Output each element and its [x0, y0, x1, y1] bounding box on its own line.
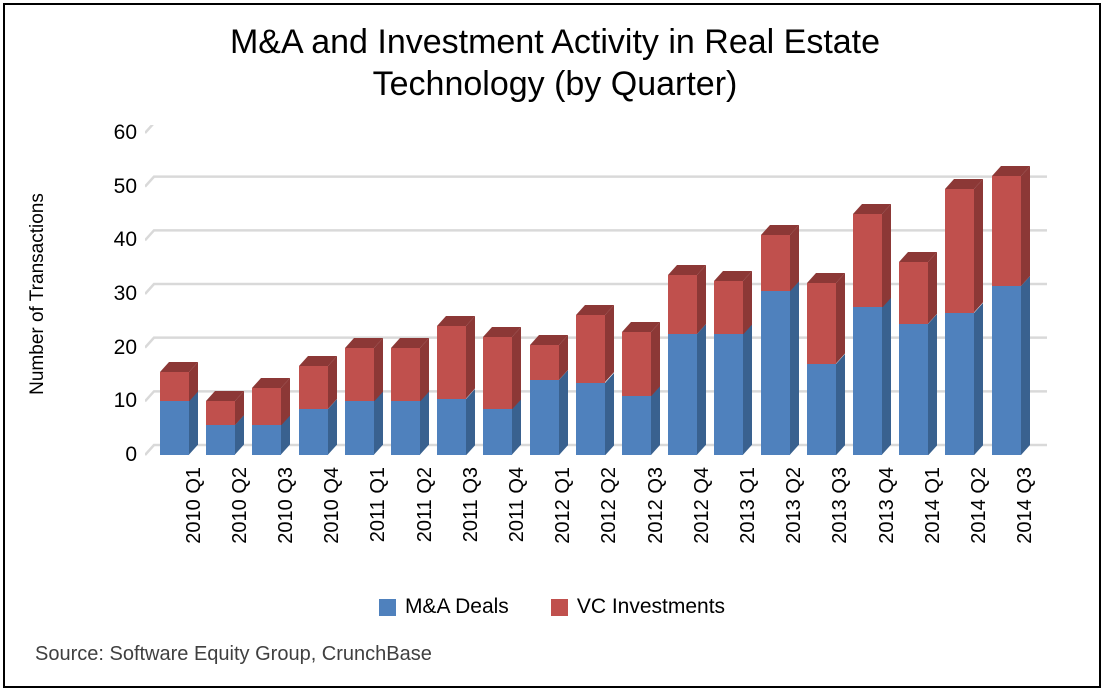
- bar-side-3d: [651, 386, 660, 455]
- chart-legend: M&A DealsVC Investments: [5, 595, 1099, 619]
- bar-side-3d: [1021, 166, 1030, 286]
- bar-segment-vc-investments[interactable]: [668, 275, 697, 334]
- bar-group[interactable]: [391, 125, 429, 465]
- bar-group[interactable]: [483, 125, 521, 465]
- bar-face: [299, 366, 328, 409]
- x-tick-label: 2011 Q3: [460, 467, 483, 542]
- x-tick-label: 2010 Q4: [321, 467, 344, 544]
- bar-group[interactable]: [206, 125, 244, 465]
- bar-group[interactable]: [160, 125, 198, 465]
- bar-face: [807, 283, 836, 364]
- bar-segment-ma-deals[interactable]: [945, 313, 974, 455]
- y-axis-title: Number of Transactions: [27, 164, 49, 424]
- bar-side-3d: [559, 370, 568, 455]
- bar-top-cap: [160, 362, 198, 373]
- x-tick-label: 2012 Q2: [598, 467, 621, 544]
- bar-top-cap: [530, 335, 568, 346]
- bar-side-3d: [790, 281, 799, 455]
- bar-face: [252, 388, 281, 426]
- bar-segment-vc-investments[interactable]: [761, 235, 790, 291]
- bar-group[interactable]: [761, 125, 799, 465]
- legend-item[interactable]: M&A Deals: [379, 595, 509, 619]
- bar-face: [853, 307, 882, 455]
- bar-group[interactable]: [899, 125, 937, 465]
- bar-face: [668, 275, 697, 334]
- bar-segment-ma-deals[interactable]: [899, 324, 928, 455]
- bar-segment-vc-investments[interactable]: [299, 366, 328, 409]
- y-axis-tick-labels: 0102030405060: [65, 125, 137, 465]
- bar-group[interactable]: [576, 125, 614, 465]
- y-tick-label: 30: [114, 282, 137, 306]
- bar-segment-vc-investments[interactable]: [714, 281, 743, 335]
- bar-segment-ma-deals[interactable]: [345, 401, 374, 455]
- bar-top-cap: [945, 179, 983, 190]
- bar-side-3d: [512, 327, 521, 409]
- bar-face: [622, 396, 651, 455]
- x-tick-label: 2011 Q1: [367, 467, 390, 542]
- bar-face: [899, 324, 928, 455]
- bar-group[interactable]: [252, 125, 290, 465]
- bar-segment-vc-investments[interactable]: [530, 345, 559, 380]
- bar-segment-vc-investments[interactable]: [252, 388, 281, 426]
- bar-side-3d: [1021, 276, 1030, 455]
- x-tick-label: 2013 Q1: [737, 467, 760, 544]
- x-tick-label: 2014 Q3: [1014, 467, 1037, 544]
- bar-face: [345, 348, 374, 402]
- bar-side-3d: [651, 322, 660, 396]
- source-note: Source: Software Equity Group, CrunchBas…: [35, 643, 432, 666]
- legend-item[interactable]: VC Investments: [551, 595, 725, 619]
- legend-label: M&A Deals: [405, 595, 509, 619]
- bar-face: [622, 332, 651, 396]
- bar-group[interactable]: [345, 125, 383, 465]
- bar-face: [160, 401, 189, 455]
- plot-area: [145, 125, 1047, 465]
- bar-face: [992, 286, 1021, 455]
- x-axis-tick-labels: 2010 Q12010 Q22010 Q32010 Q42011 Q12011 …: [145, 467, 1047, 577]
- bar-top-cap: [622, 322, 660, 333]
- bar-top-cap: [668, 265, 706, 276]
- bar-segment-ma-deals[interactable]: [252, 425, 281, 455]
- bar-top-cap: [206, 391, 244, 402]
- bar-segment-vc-investments[interactable]: [622, 332, 651, 396]
- bar-face: [992, 176, 1021, 286]
- y-tick-label: 40: [114, 228, 137, 252]
- bar-segment-vc-investments[interactable]: [576, 315, 605, 382]
- legend-label: VC Investments: [577, 595, 725, 619]
- bar-segment-vc-investments[interactable]: [160, 372, 189, 402]
- bar-segment-ma-deals[interactable]: [299, 409, 328, 455]
- bar-segment-vc-investments[interactable]: [206, 401, 235, 425]
- bar-top-cap: [853, 204, 891, 215]
- legend-swatch-icon: [551, 599, 568, 616]
- bar-group[interactable]: [622, 125, 660, 465]
- bar-side-3d: [697, 324, 706, 455]
- bar-group[interactable]: [437, 125, 475, 465]
- legend-swatch-icon: [379, 599, 396, 616]
- chart-title-line-2: Technology (by Quarter): [373, 65, 738, 103]
- bar-side-3d: [882, 297, 891, 455]
- bar-segment-ma-deals[interactable]: [992, 286, 1021, 455]
- bar-face: [714, 281, 743, 335]
- x-tick-label: 2010 Q2: [229, 467, 252, 544]
- bar-segment-vc-investments[interactable]: [483, 337, 512, 409]
- x-tick-label: 2014 Q1: [922, 467, 945, 544]
- bar-group[interactable]: [714, 125, 752, 465]
- x-tick-label: 2011 Q2: [414, 467, 437, 542]
- bar-face: [391, 348, 420, 402]
- bar-face: [761, 235, 790, 291]
- bar-face: [437, 326, 466, 398]
- bar-top-cap: [437, 316, 475, 327]
- bar-face: [160, 372, 189, 402]
- chart-title-line-1: M&A and Investment Activity in Real Esta…: [230, 23, 880, 61]
- bar-side-3d: [974, 303, 983, 455]
- bar-side-3d: [466, 316, 475, 398]
- bar-face: [437, 399, 466, 455]
- x-tick-label: 2013 Q2: [783, 467, 806, 544]
- bar-face: [391, 401, 420, 455]
- bar-side-3d: [882, 204, 891, 308]
- bar-segment-vc-investments[interactable]: [853, 214, 882, 308]
- y-tick-label: 10: [114, 389, 137, 413]
- bar-face: [530, 380, 559, 455]
- bars-container: [145, 125, 1047, 465]
- bar-top-cap: [992, 166, 1030, 177]
- bar-segment-ma-deals[interactable]: [160, 401, 189, 455]
- bar-segment-vc-investments[interactable]: [391, 348, 420, 402]
- bar-group[interactable]: [299, 125, 337, 465]
- bar-segment-ma-deals[interactable]: [437, 399, 466, 455]
- bar-face: [206, 401, 235, 425]
- x-tick-label: 2013 Q4: [876, 467, 899, 544]
- y-tick-label: 60: [114, 121, 137, 145]
- y-tick-label: 50: [114, 175, 137, 199]
- bar-segment-ma-deals[interactable]: [622, 396, 651, 455]
- x-tick-label: 2012 Q1: [552, 467, 575, 544]
- bar-group[interactable]: [807, 125, 845, 465]
- bar-segment-ma-deals[interactable]: [483, 409, 512, 455]
- bar-top-cap: [483, 327, 521, 338]
- bar-side-3d: [928, 314, 937, 455]
- y-tick-label: 0: [125, 443, 137, 467]
- bar-segment-vc-investments[interactable]: [992, 176, 1021, 286]
- bar-face: [807, 364, 836, 455]
- bar-group[interactable]: [530, 125, 568, 465]
- bar-top-cap: [252, 378, 290, 389]
- bar-face: [299, 409, 328, 455]
- bar-group[interactable]: [853, 125, 891, 465]
- bar-side-3d: [743, 324, 752, 455]
- bar-top-cap: [807, 273, 845, 284]
- bar-face: [530, 345, 559, 380]
- bar-side-3d: [974, 179, 983, 312]
- bar-face: [899, 262, 928, 324]
- bar-face: [576, 315, 605, 382]
- bar-segment-ma-deals[interactable]: [761, 291, 790, 455]
- bar-segment-vc-investments[interactable]: [945, 189, 974, 312]
- x-tick-label: 2012 Q3: [645, 467, 668, 544]
- bar-top-cap: [299, 356, 337, 367]
- bar-segment-ma-deals[interactable]: [807, 364, 836, 455]
- bar-top-cap: [345, 338, 383, 349]
- bar-group[interactable]: [668, 125, 706, 465]
- bar-face: [853, 214, 882, 308]
- chart-frame: M&A and Investment Activity in Real Esta…: [3, 3, 1101, 688]
- x-tick-label: 2013 Q3: [829, 467, 852, 544]
- bar-segment-ma-deals[interactable]: [530, 380, 559, 455]
- bar-segment-ma-deals[interactable]: [714, 334, 743, 455]
- bar-face: [761, 291, 790, 455]
- bar-segment-ma-deals[interactable]: [853, 307, 882, 455]
- bar-group[interactable]: [945, 125, 983, 465]
- bar-face: [576, 383, 605, 455]
- x-tick-label: 2010 Q1: [183, 467, 206, 544]
- bar-segment-ma-deals[interactable]: [391, 401, 420, 455]
- bar-face: [945, 313, 974, 455]
- bar-top-cap: [576, 305, 614, 316]
- bar-group[interactable]: [992, 125, 1030, 465]
- y-tick-label: 20: [114, 336, 137, 360]
- bar-segment-vc-investments[interactable]: [899, 262, 928, 324]
- bar-top-cap: [714, 271, 752, 282]
- bar-segment-vc-investments[interactable]: [437, 326, 466, 398]
- bar-top-cap: [899, 252, 937, 263]
- bar-face: [483, 337, 512, 409]
- x-tick-label: 2011 Q4: [506, 467, 529, 542]
- bar-side-3d: [836, 354, 845, 455]
- bar-side-3d: [836, 273, 845, 364]
- x-tick-label: 2014 Q2: [968, 467, 991, 544]
- bar-side-3d: [605, 305, 614, 382]
- bar-face: [252, 425, 281, 455]
- x-tick-label: 2010 Q3: [275, 467, 298, 544]
- chart-title: M&A and Investment Activity in Real Esta…: [65, 21, 1045, 105]
- bar-face: [483, 409, 512, 455]
- bar-face: [945, 189, 974, 312]
- bar-face: [668, 334, 697, 455]
- bar-face: [714, 334, 743, 455]
- bar-face: [345, 401, 374, 455]
- bar-segment-ma-deals[interactable]: [668, 334, 697, 455]
- bar-segment-vc-investments[interactable]: [807, 283, 836, 364]
- bar-face: [206, 425, 235, 455]
- bar-top-cap: [761, 225, 799, 236]
- x-tick-label: 2012 Q4: [691, 467, 714, 544]
- bar-segment-ma-deals[interactable]: [576, 383, 605, 455]
- bar-segment-ma-deals[interactable]: [206, 425, 235, 455]
- bar-segment-vc-investments[interactable]: [345, 348, 374, 402]
- bar-side-3d: [605, 373, 614, 455]
- bar-top-cap: [391, 338, 429, 349]
